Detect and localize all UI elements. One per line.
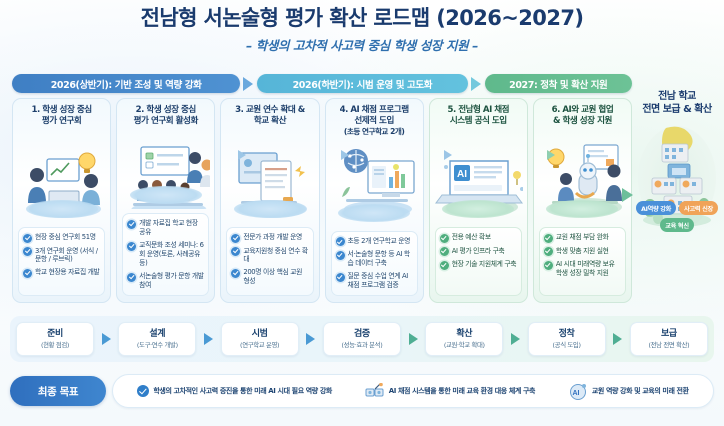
card-6-illustration-base bbox=[546, 200, 618, 218]
card-5-title-line2: 시스템 공식 도입 bbox=[450, 116, 507, 126]
card-2-bullet-1: 개발 자료집 학교 현장 공유 bbox=[127, 219, 204, 237]
teacher-ai-icon: AI bbox=[568, 383, 588, 400]
card-2: 2. 학생 성장 중심 평가 연구회 활성화 bbox=[116, 98, 215, 303]
goal-row: 최종 목표 학생의 고차적인 사고력 증진을 통한 미래 AI 시대 필요 역량… bbox=[10, 372, 714, 410]
timeline-row: 준비 (현황 점검) 설계 (도구·연수 개발) 시범 (연구학교 운영) 검증… bbox=[10, 316, 714, 362]
timeline-step-6: 정착 (공식 도입) bbox=[528, 322, 606, 356]
goal-item-3-text: 교원 역량 강화 및 교육의 미래 전환 bbox=[592, 386, 689, 396]
card-arrow-2-icon bbox=[341, 150, 349, 160]
card-4-title: 4. AI 채점 프로그램 선제적 도입 (초등 연구학교 2개) bbox=[326, 99, 423, 139]
check-icon bbox=[544, 261, 553, 270]
goal-item-2: AI 채점 시스템을 통한 미래 교육 환경 대응 체계 구축 bbox=[365, 383, 535, 400]
check-icon bbox=[336, 251, 345, 260]
svg-text:AI: AI bbox=[457, 169, 467, 180]
timeline-step-4: 검증 (성능·효과 분석) bbox=[323, 322, 401, 356]
card-3: 3. 교원 연수 확대 & 학교 확산 AI bbox=[220, 98, 319, 303]
timeline-step-7-label: 보급 bbox=[661, 329, 677, 339]
timeline-step-5-sublabel: (교원·학교 확대) bbox=[444, 340, 485, 349]
check-icon bbox=[231, 269, 240, 278]
timeline-step-6-sublabel: (공식 도입) bbox=[553, 340, 581, 349]
outcome-title: 전남 학교 전면 보급 & 확산 bbox=[636, 90, 718, 116]
goal-item-1: 학생의 고차적인 사고력 증진을 통한 미래 AI 시대 필요 역량 강화 bbox=[137, 385, 332, 397]
card-2-illustration-base bbox=[130, 186, 202, 204]
check-icon bbox=[544, 234, 553, 243]
timeline-step-2: 설계 (도구·연수 개발) bbox=[118, 322, 196, 356]
card-5-illustration: AI bbox=[434, 131, 523, 223]
outcome-illustration: AI역량 강화 사고력 신장 교육 혁신 bbox=[636, 120, 718, 240]
card-2-bullet-3: 서논술형 평가 문항 개발 참여 bbox=[127, 272, 204, 290]
ai-scoring-icon bbox=[365, 383, 385, 400]
card-2-bullets: 개발 자료집 학교 현장 공유 교직문화 조성 세미나: 6회 운영(토론, 사… bbox=[122, 213, 209, 296]
timeline-step-1-label: 준비 bbox=[47, 329, 63, 339]
card-1-title-line2: 평가 연구회 bbox=[42, 116, 82, 126]
check-icon bbox=[127, 220, 136, 229]
card-3-illustration-base bbox=[234, 200, 306, 218]
card-arrow-4-icon bbox=[547, 150, 555, 160]
timeline-step-1-sublabel: (현황 점검) bbox=[41, 340, 69, 349]
card-6-illustration bbox=[538, 131, 627, 223]
card-5-bullets: 전용 예산 확보 AI 평가 인프라 구축 현장 기술 지원체계 구축 bbox=[435, 227, 522, 296]
timeline-arrow-5-icon bbox=[511, 333, 520, 345]
card-1-title: 1. 학생 성장 중심 평가 연구회 bbox=[13, 99, 110, 131]
card-1-bullet-1: 현장 중심 연구회 51명 bbox=[23, 233, 100, 243]
card-2-title-line2: 평가 연구회 활성화 bbox=[134, 116, 198, 126]
phase-bar-row: 2026(상반기): 기반 조성 및 역량 강화 2026(하반기): 시범 운… bbox=[12, 74, 632, 93]
check-icon bbox=[231, 234, 240, 243]
goal-item-2-text: AI 채점 시스템을 통한 미래 교육 환경 대응 체계 구축 bbox=[389, 386, 535, 396]
card-6-title-line1: 6. AI와 교원 협업 bbox=[552, 105, 614, 115]
check-icon bbox=[127, 273, 136, 282]
timeline-step-5-label: 확산 bbox=[456, 329, 472, 339]
outcome-tag-2: 사고력 신장 bbox=[679, 201, 718, 215]
timeline-arrow-2-icon bbox=[204, 333, 213, 345]
goal-badge: 최종 목표 bbox=[10, 376, 106, 406]
card-arrow-5-icon bbox=[622, 188, 633, 202]
outcome-panel: 전남 학교 전면 보급 & 확산 bbox=[636, 90, 718, 302]
timeline-step-2-sublabel: (도구·연수 개발) bbox=[137, 340, 178, 349]
check-icon bbox=[23, 234, 32, 243]
timeline-step-3-label: 시범 bbox=[252, 329, 268, 339]
card-4-title-line2: 선제적 도입 bbox=[354, 116, 394, 126]
card-5-title-line1: 5. 전남형 AI 채점 bbox=[447, 105, 509, 115]
card-4: 4. AI 채점 프로그램 선제적 도입 (초등 연구학교 2개) bbox=[325, 98, 424, 303]
timeline-arrow-4-icon bbox=[409, 333, 418, 345]
card-5-bullet-2: AI 평가 인프라 구축 bbox=[440, 247, 517, 257]
timeline-step-1: 준비 (현황 점검) bbox=[16, 322, 94, 356]
goal-items: 학생의 고차적인 사고력 증진을 통한 미래 AI 시대 필요 역량 강화 AI… bbox=[112, 374, 714, 408]
card-3-bullets: 전문가 과정 개발 운영 교육지원청 중심 연수 확대 200명 이상 핵심 교… bbox=[226, 227, 313, 296]
card-5-bullet-1: 전용 예산 확보 bbox=[440, 233, 517, 243]
outcome-title-line1: 전남 학교 bbox=[658, 91, 696, 102]
card-1-illustration bbox=[17, 131, 106, 223]
page-subtitle: – 학생의 고차적 사고력 중심 학생 성장 지원 – bbox=[0, 35, 724, 54]
check-icon bbox=[336, 237, 345, 246]
timeline-step-7: 보급 (전남 전면 확산) bbox=[630, 322, 708, 356]
outcome-tag-3: 교육 혁신 bbox=[660, 218, 693, 232]
card-row: 1. 학생 성장 중심 평가 연구회 bbox=[12, 98, 632, 303]
timeline-arrow-3-icon bbox=[306, 333, 315, 345]
card-1-bullet-3: 학교 현장용 자료집 개발 bbox=[23, 268, 100, 278]
check-icon bbox=[23, 269, 32, 278]
card-5-bullet-3: 현장 기술 지원체계 구축 bbox=[440, 260, 517, 270]
card-2-bullet-2: 교직문화 조성 세미나: 6회 운영(토론, 사례공유 등) bbox=[127, 241, 204, 268]
card-2-illustration bbox=[121, 131, 210, 209]
svg-text:AI: AI bbox=[572, 390, 579, 397]
card-5: 5. 전남형 AI 채점 시스템 공식 도입 AI bbox=[429, 98, 528, 303]
card-arrow-3-icon bbox=[444, 150, 452, 160]
check-icon bbox=[231, 247, 240, 256]
card-arrow-1-icon bbox=[238, 150, 246, 160]
card-1-bullet-2: 3개 연구회 운영 (서식 / 문항 / 루브릭) bbox=[23, 247, 100, 265]
card-1: 1. 학생 성장 중심 평가 연구회 bbox=[12, 98, 111, 303]
phase-arrow-2-icon bbox=[471, 77, 482, 91]
check-icon bbox=[440, 247, 449, 256]
card-2-title: 2. 학생 성장 중심 평가 연구회 활성화 bbox=[117, 99, 214, 131]
timeline-step-3: 시범 (연구학교 운영) bbox=[221, 322, 299, 356]
card-6: 6. AI와 교원 협업 & 학생 성장 지원 bbox=[533, 98, 632, 303]
card-4-title-line1: 4. AI 채점 프로그램 bbox=[340, 105, 409, 115]
card-6-title: 6. AI와 교원 협업 & 학생 성장 지원 bbox=[534, 99, 631, 131]
check-icon bbox=[440, 234, 449, 243]
card-4-illustration-base bbox=[338, 204, 410, 222]
timeline-step-2-label: 설계 bbox=[149, 329, 165, 339]
card-6-bullets: 교원 채점 부담 완화 학생 맞춤 지원 실현 AI 시대 미래역량 보유 학생… bbox=[539, 227, 626, 296]
check-icon bbox=[336, 273, 345, 282]
timeline-step-6-label: 정착 bbox=[559, 329, 575, 339]
card-5-title: 5. 전남형 AI 채점 시스템 공식 도입 bbox=[430, 99, 527, 131]
outcome-tag-1: AI역량 강화 bbox=[636, 201, 676, 215]
card-2-title-line1: 2. 학생 성장 중심 bbox=[136, 105, 196, 115]
timeline-arrow-1-icon bbox=[102, 333, 111, 345]
card-3-bullet-2: 교육지원청 중심 연수 확대 bbox=[231, 247, 308, 265]
card-4-bullet-1: 초등 2개 연구학교 운영 bbox=[336, 237, 413, 247]
page-title: 전남형 서논술형 평가 확산 로드맵 (2026~2027) bbox=[0, 6, 724, 30]
phase-bar-2: 2026(하반기): 시범 운영 및 고도화 bbox=[257, 74, 467, 93]
card-4-bullet-2: 서·논술형 문항 등 AI 학습 데이터 구축 bbox=[336, 250, 413, 268]
timeline-arrow-6-icon bbox=[613, 333, 622, 345]
roadmap-infographic: 전남형 서논술형 평가 확산 로드맵 (2026~2027) – 학생의 고차적… bbox=[0, 0, 724, 426]
card-6-bullet-2: 학생 맞춤 지원 실현 bbox=[544, 247, 621, 257]
goal-item-1-text: 학생의 고차적인 사고력 증진을 통한 미래 AI 시대 필요 역량 강화 bbox=[153, 386, 332, 396]
phase-bar-1: 2026(상반기): 기반 조성 및 역량 강화 bbox=[12, 74, 240, 93]
card-6-title-line2: & 학생 성장 지원 bbox=[553, 116, 612, 126]
card-1-illustration-base bbox=[26, 200, 98, 218]
timeline-step-3-sublabel: (연구학교 운영) bbox=[240, 340, 279, 349]
card-3-bullet-1: 전문가 과정 개발 운영 bbox=[231, 233, 308, 243]
card-1-title-line1: 1. 학생 성장 중심 bbox=[32, 105, 92, 115]
check-icon bbox=[544, 247, 553, 256]
card-4-bullet-3: 질문 중심 수업 연계 AI 채점 프로그램 검증 bbox=[336, 272, 413, 290]
check-icon bbox=[23, 247, 32, 256]
goal-item-3: AI 교원 역량 강화 및 교육의 미래 전환 bbox=[568, 383, 689, 400]
card-3-title: 3. 교원 연수 확대 & 학교 확산 bbox=[221, 99, 318, 131]
card-3-title-line1: 3. 교원 연수 확대 & bbox=[235, 105, 305, 115]
card-3-illustration: AI bbox=[225, 131, 314, 223]
timeline-step-5: 확산 (교원·학교 확대) bbox=[425, 322, 503, 356]
card-4-bullets: 초등 2개 연구학교 운영 서·논술형 문항 등 AI 학습 데이터 구축 질문… bbox=[331, 231, 418, 296]
check-icon bbox=[440, 261, 449, 270]
card-3-title-line2: 학교 확산 bbox=[254, 116, 286, 126]
phase-arrow-1-icon bbox=[243, 77, 254, 91]
card-1-bullets: 현장 중심 연구회 51명 3개 연구회 운영 (서식 / 문항 / 루브릭) … bbox=[18, 227, 105, 296]
timeline-step-7-sublabel: (전남 전면 확산) bbox=[648, 340, 689, 349]
card-4-title-subtitle: (초등 연구학교 2개) bbox=[330, 127, 419, 137]
title-section: 전남형 서논술형 평가 확산 로드맵 (2026~2027) – 학생의 고차적… bbox=[0, 0, 724, 54]
phase-bar-3: 2027: 정착 및 확산 지원 bbox=[485, 74, 632, 93]
check-icon bbox=[127, 242, 136, 251]
timeline-step-4-sublabel: (성능·효과 분석) bbox=[342, 340, 383, 349]
card-6-bullet-3: AI 시대 미래역량 보유 학생 성장 밀착 지원 bbox=[544, 260, 621, 278]
outcome-tags: AI역량 강화 사고력 신장 교육 혁신 bbox=[636, 201, 718, 232]
check-circle-icon bbox=[137, 385, 149, 397]
card-6-bullet-1: 교원 채점 부담 완화 bbox=[544, 233, 621, 243]
card-3-bullet-3: 200명 이상 핵심 교원 형성 bbox=[231, 268, 308, 286]
card-5-illustration-base bbox=[442, 200, 514, 218]
outcome-title-line2: 전면 보급 & 확산 bbox=[642, 104, 711, 115]
timeline-step-4-label: 검증 bbox=[354, 329, 370, 339]
